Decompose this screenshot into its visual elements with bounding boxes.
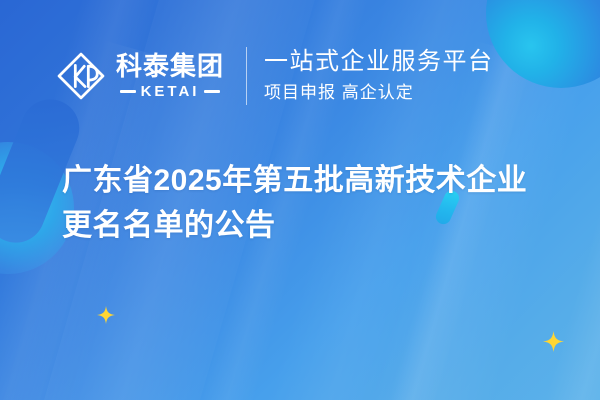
ketai-logo[interactable]: 科泰集团 KETAI xyxy=(55,50,224,102)
page-title: 广东省2025年第五批高新技术企业 更名名单的公告 xyxy=(62,158,572,248)
logo-dash-right-icon xyxy=(204,90,220,93)
banner-header: 科泰集团 KETAI 一站式企业服务平台 项目申报 高企认定 xyxy=(55,40,555,112)
sparkle-star-right-icon xyxy=(543,331,564,352)
page-title-line-2: 更名名单的公告 xyxy=(62,203,572,248)
logo-dash-left-icon xyxy=(120,90,136,93)
tagline-sub-text: 项目申报 高企认定 xyxy=(264,82,494,104)
sparkle-star-left-icon xyxy=(97,306,115,324)
header-divider xyxy=(246,47,247,105)
ketai-kp-diamond-logo-icon xyxy=(55,50,107,102)
tagline-main-text: 一站式企业服务平台 xyxy=(264,48,494,77)
announcement-banner: 科泰集团 KETAI 一站式企业服务平台 项目申报 高企认定 广东省2025年第… xyxy=(0,0,600,400)
tagline: 一站式企业服务平台 项目申报 高企认定 xyxy=(264,48,494,104)
logo-company-name-en-row: KETAI xyxy=(116,84,224,99)
logo-company-name-en: KETAI xyxy=(141,84,200,99)
page-title-line-1: 广东省2025年第五批高新技术企业 xyxy=(62,158,572,203)
logo-company-name-cn: 科泰集团 xyxy=(116,53,224,80)
